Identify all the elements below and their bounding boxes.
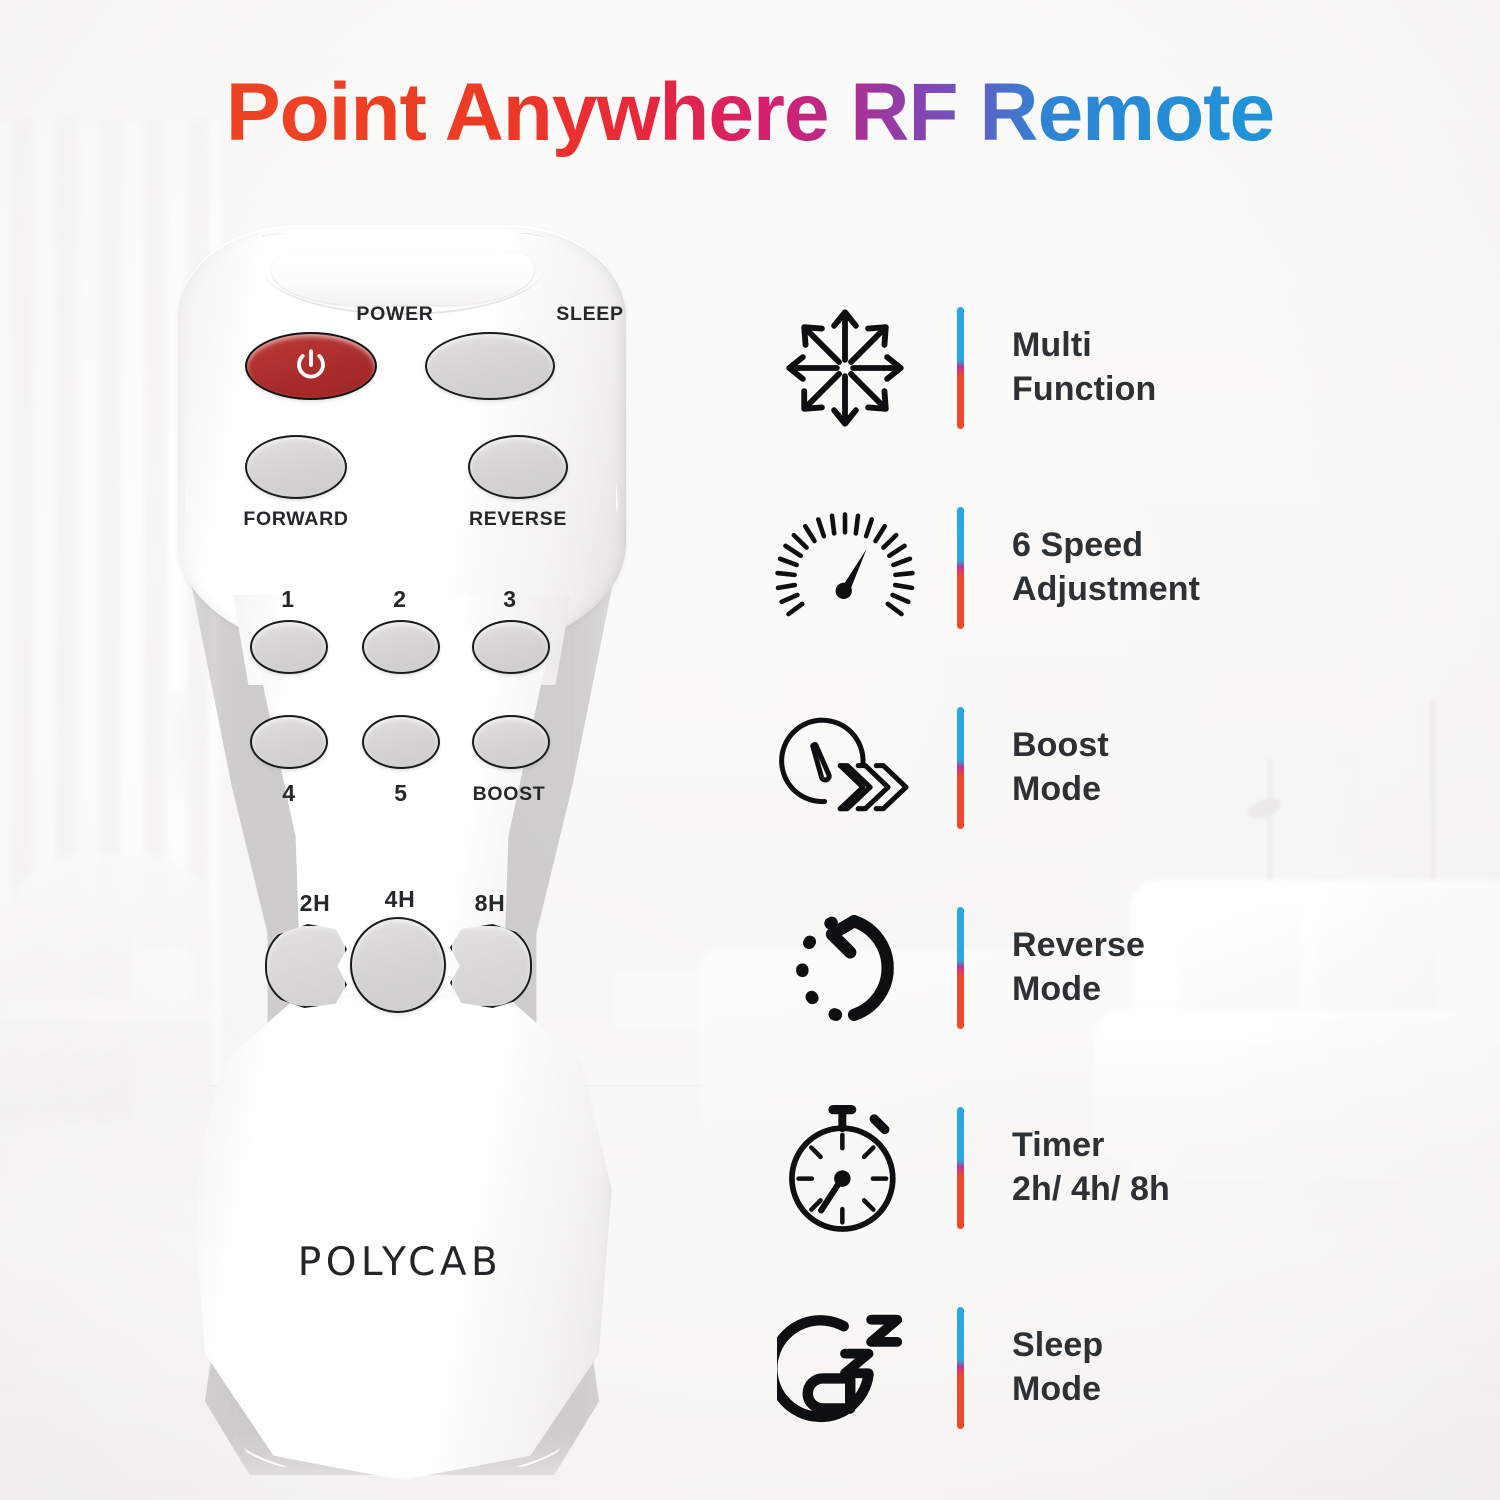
key-reverse[interactable]	[468, 435, 568, 499]
feature-list: Multi Function	[755, 268, 1475, 1468]
feature-divider-bar	[957, 707, 964, 829]
page-title: Point Anywhere RF Remote	[0, 72, 1500, 154]
multi-direction-arrows-icon	[755, 293, 935, 443]
feature-label-line2: Function	[1012, 368, 1156, 412]
feature-label-line2: Mode	[1012, 768, 1109, 812]
feature-divider-bar	[957, 907, 964, 1029]
speedometer-icon	[755, 493, 935, 643]
key-speed-1[interactable]	[250, 620, 328, 674]
remote-control: POWER SLEEP FORWARD REVERSE 1 2 3 4 5 BO…	[150, 215, 650, 1490]
feature-label-line1: Reverse	[1012, 924, 1145, 968]
feature-label-line2: Mode	[1012, 1368, 1103, 1412]
feature-label-line2: Adjustment	[1012, 568, 1200, 612]
feature-label: Timer 2h/ 4h/ 8h	[1012, 1124, 1170, 1211]
rotate-reverse-icon	[755, 893, 935, 1043]
key-label-speed-4: 4	[254, 780, 324, 807]
feature-item-reverse-mode: Reverse Mode	[755, 868, 1475, 1068]
feature-divider-bar	[957, 307, 964, 429]
feature-item-sleep-mode: Sleep Mode	[755, 1268, 1475, 1468]
key-label-speed-3: 3	[475, 586, 545, 613]
key-label-timer-2h: 2H	[275, 890, 355, 917]
feature-label: Reverse Mode	[1012, 924, 1145, 1011]
feature-label-line1: Multi	[1012, 324, 1156, 368]
feature-divider-bar	[957, 1107, 964, 1229]
boost-chevrons-icon	[755, 693, 935, 843]
remote-body-bottom	[188, 995, 616, 1480]
key-timer-2h[interactable]	[265, 924, 347, 1008]
key-label-reverse: REVERSE	[453, 508, 583, 531]
feature-item-speed-adjustment: 6 Speed Adjustment	[755, 468, 1475, 668]
key-label-speed-2: 2	[365, 586, 435, 613]
key-boost[interactable]	[472, 715, 550, 769]
key-label-forward: FORWARD	[231, 508, 361, 531]
feature-label-line1: Boost	[1012, 724, 1109, 768]
key-timer-4h[interactable]	[350, 917, 446, 1013]
feature-item-timer: Timer 2h/ 4h/ 8h	[755, 1068, 1475, 1268]
brand-logo: POLYCAB	[150, 1240, 650, 1285]
key-speed-3[interactable]	[472, 620, 550, 674]
key-label-timer-4h: 4H	[360, 886, 440, 913]
key-label-timer-8h: 8H	[450, 890, 530, 917]
feature-item-boost-mode: Boost Mode	[755, 668, 1475, 868]
key-sleep[interactable]	[425, 332, 555, 400]
feature-label: Multi Function	[1012, 324, 1156, 411]
key-forward[interactable]	[245, 435, 347, 499]
key-label-speed-1: 1	[253, 586, 323, 613]
feature-divider-bar	[957, 507, 964, 629]
key-power[interactable]	[245, 332, 377, 400]
feature-label: Boost Mode	[1012, 724, 1109, 811]
feature-label-line1: 6 Speed	[1012, 524, 1200, 568]
key-speed-4[interactable]	[250, 715, 328, 769]
key-speed-5[interactable]	[362, 715, 440, 769]
power-icon	[247, 334, 375, 398]
feature-label: Sleep Mode	[1012, 1324, 1103, 1411]
feature-label-line2: 2h/ 4h/ 8h	[1012, 1168, 1170, 1212]
remote-body	[150, 215, 650, 1490]
key-speed-2[interactable]	[362, 620, 440, 674]
sleep-zzz-icon	[755, 1293, 935, 1443]
key-timer-8h[interactable]	[450, 924, 532, 1008]
page-title-text: Point Anywhere RF Remote	[226, 67, 1274, 158]
stopwatch-icon	[755, 1093, 935, 1243]
key-label-boost: BOOST	[444, 783, 574, 806]
feature-divider-bar	[957, 1307, 964, 1429]
key-label-power: POWER	[330, 303, 460, 326]
feature-label-line1: Sleep	[1012, 1324, 1103, 1368]
feature-item-multi-function: Multi Function	[755, 268, 1475, 468]
feature-label: 6 Speed Adjustment	[1012, 524, 1200, 611]
feature-label-line2: Mode	[1012, 968, 1145, 1012]
feature-label-line1: Timer	[1012, 1124, 1170, 1168]
key-label-speed-5: 5	[366, 780, 436, 807]
key-label-sleep: SLEEP	[525, 303, 655, 326]
